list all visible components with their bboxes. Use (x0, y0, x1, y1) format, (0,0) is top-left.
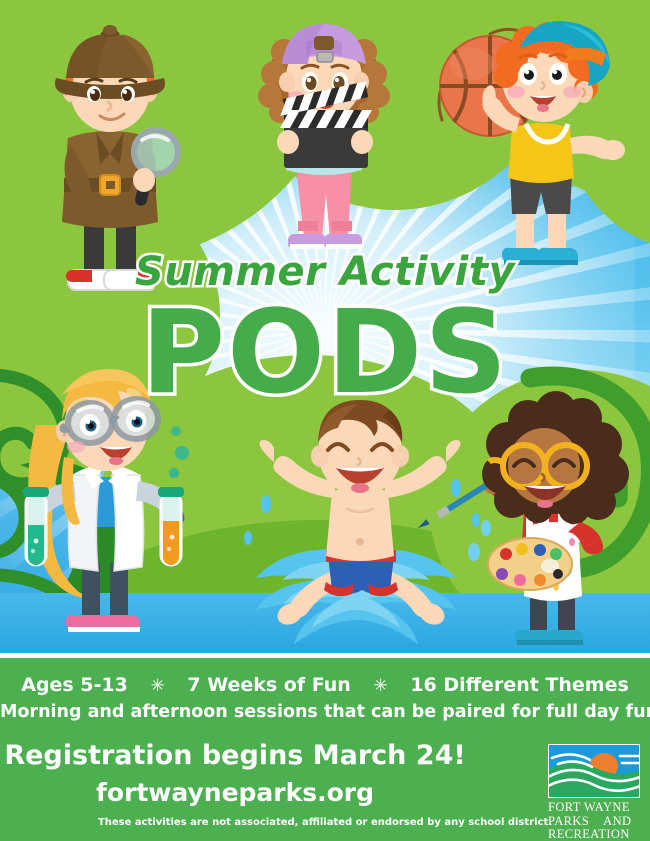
info-banner: Ages 5-13 ✳ 7 Weeks of Fun ✳ 16 Differen… (0, 658, 650, 841)
logo-word-parks: PARKS (548, 815, 589, 829)
poster-title-block: Summer Activity PODS (0, 252, 650, 408)
website-url[interactable]: fortwayneparks.org (0, 778, 470, 807)
logo-word-and: AND (603, 815, 631, 829)
fact-weeks: 7 Weeks of Fun (187, 674, 350, 696)
parks-logo-mark-icon (548, 744, 640, 798)
character-basketball-kid (432, 14, 642, 284)
logo-line-recreation: RECREATION (548, 828, 640, 841)
banner-subtitle: Morning and afternoon sessions that can … (0, 702, 650, 722)
poster-title-pods: PODS (0, 298, 650, 408)
poster-artwork: Summer Activity PODS (0, 0, 650, 653)
star-separator-icon-2: ✳ (373, 676, 387, 696)
character-artist-kid (468, 404, 643, 653)
fact-ages: Ages 5-13 (21, 674, 128, 696)
parks-logo-wordmark: FORT WAYNE PARKSAND RECREATION (548, 801, 640, 841)
star-separator-icon: ✳ (150, 676, 164, 696)
registration-date-text: Registration begins March 24! (0, 740, 470, 771)
fact-themes: 16 Different Themes (410, 674, 628, 696)
summer-activity-pods-poster: Summer Activity PODS Ages 5-13 ✳ 7 Weeks… (0, 0, 650, 841)
fort-wayne-parks-logo: FORT WAYNE PARKSAND RECREATION (548, 744, 640, 841)
logo-line-parks-and: PARKSAND (548, 815, 640, 829)
character-swimming-kid (240, 400, 480, 653)
character-filmmaker-kid (248, 16, 400, 261)
facts-row: Ages 5-13 ✳ 7 Weeks of Fun ✳ 16 Differen… (0, 674, 650, 696)
logo-line-fort-wayne: FORT WAYNE (548, 801, 640, 815)
